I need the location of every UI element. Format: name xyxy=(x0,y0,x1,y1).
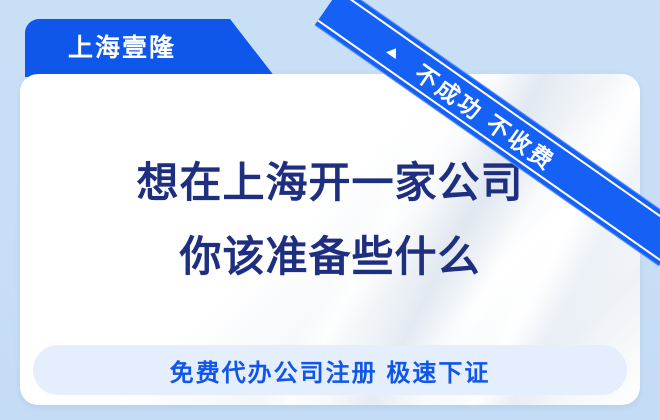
cta-pill-label: 免费代办公司注册 极速下证 xyxy=(170,353,491,388)
cta-pill[interactable]: 免费代办公司注册 极速下证 xyxy=(33,345,627,395)
brand-tab: 上海壹隆 xyxy=(25,19,275,77)
content-card: 想在上海开一家公司 你该准备些什么 免费代办公司注册 极速下证 xyxy=(20,74,640,405)
brand-tab-label: 上海壹隆 xyxy=(68,31,176,65)
triangle-up-icon xyxy=(386,44,401,58)
promo-poster: 上海壹隆 想在上海开一家公司 你该准备些什么 免费代办公司注册 极速下证 不成功… xyxy=(0,0,660,420)
headline-line-2: 你该准备些什么 xyxy=(20,220,640,294)
